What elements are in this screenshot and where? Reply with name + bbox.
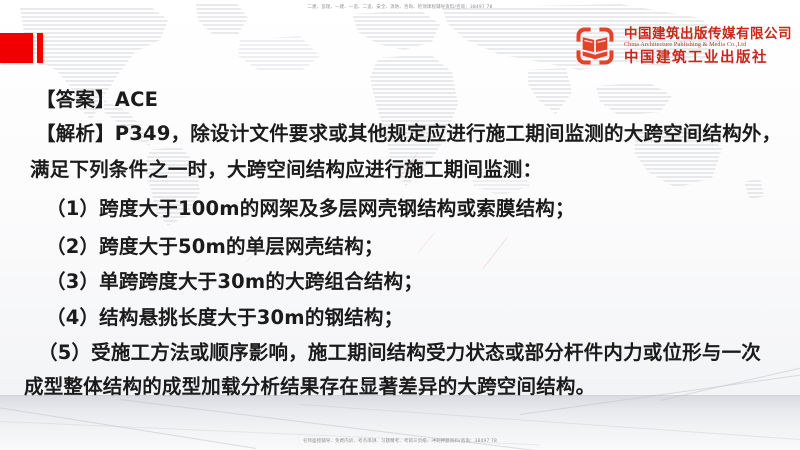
condition-item-5-cont: 成型整体结构的成型加载分析结果存在显著差异的大跨空间结构。 xyxy=(24,370,595,399)
answer-line: 【答案】ACE xyxy=(36,83,158,112)
slide-content: 【答案】ACE 【解析】P349，除设计文件要求或其他规定应进行施工期间监测的大… xyxy=(0,0,800,450)
condition-item-5: （5）受施工方法或顺序影响，施工期间结构受力状态或部分杆件内力或位形与一次 xyxy=(38,336,761,365)
condition-item-4: （4）结构悬挑长度大于30m的钢结构； xyxy=(46,301,403,330)
analysis-line-1: 【解析】P349，除设计文件要求或其他规定应进行施工期间监测的大跨空间结构外， xyxy=(36,117,781,146)
slide-canvas: 二建、监理、一建、一造、二造、安全、消防、咨询、检测课程辅导资料/咨询：3849… xyxy=(0,0,800,450)
condition-item-3: （3）单跨跨度大于30m的大跨组合结构； xyxy=(46,265,423,294)
condition-item-1: （1）跨度大于100m的网架及多层网壳钢结构或索膜结构； xyxy=(46,192,575,221)
condition-item-2: （2）跨度大于50m的单层网壳结构； xyxy=(46,230,384,259)
analysis-line-2: 满足下列条件之一时，大跨空间结构应进行施工期间监测： xyxy=(30,153,542,182)
